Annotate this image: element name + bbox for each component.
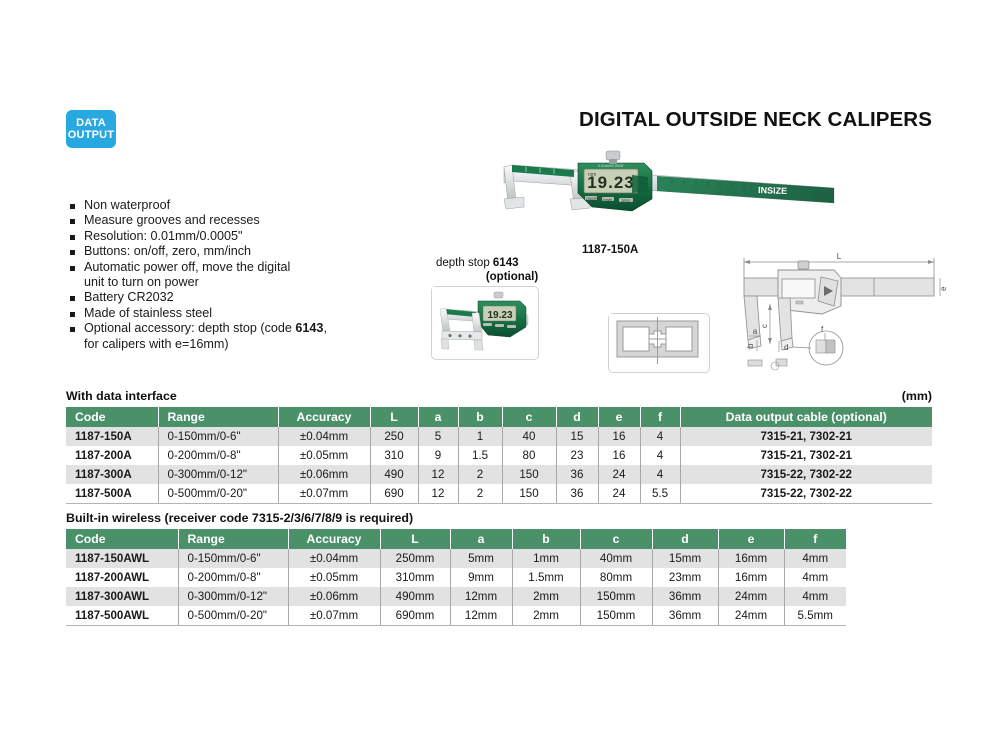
cell-f: 4mm	[784, 587, 846, 606]
feature-text: Optional accessory: depth stop (code 614…	[84, 321, 327, 335]
col-header-d: d	[652, 529, 718, 549]
badge-line-1: DATA	[76, 117, 106, 129]
dim-label-L: L	[837, 252, 842, 261]
cell-c: 150	[502, 484, 556, 504]
feature-text: Battery CR2032	[84, 290, 174, 304]
cell-a: 5mm	[450, 549, 512, 568]
groove-measurement-diagram	[609, 314, 706, 369]
depth-stop-photo-frame: 19.23	[431, 286, 539, 360]
table1-unit-note: (mm)	[902, 389, 932, 403]
col-header-code: Code	[66, 529, 178, 549]
list-item: Resolution: 0.01mm/0.0005"	[70, 229, 400, 244]
cell-a: 5	[418, 427, 458, 446]
cell-accuracy: ±0.04mm	[288, 549, 380, 568]
list-item: Non waterproof	[70, 198, 400, 213]
cell-range: 0-200mm/0-8"	[178, 568, 288, 587]
cell-e: 16mm	[718, 549, 784, 568]
cell-e: 24mm	[718, 587, 784, 606]
dim-label-c: c	[760, 324, 769, 328]
cell-e: 24mm	[718, 606, 784, 626]
cell-L: 490mm	[380, 587, 450, 606]
depth-stop-caption-line1: depth stop 6143	[436, 256, 616, 270]
cell-L: 250	[370, 427, 418, 446]
dimension-drawing: L e c a	[726, 248, 966, 378]
dim-label-f: f	[821, 325, 824, 334]
cell-e: 24	[598, 465, 640, 484]
cell-c: 40	[502, 427, 556, 446]
cell-accuracy: ±0.04mm	[278, 427, 370, 446]
cell-range: 0-500mm/0-20"	[158, 484, 278, 504]
depth-stop-code-value: 6143	[493, 257, 519, 269]
cell-d: 23mm	[652, 568, 718, 587]
cell-e: 16	[598, 427, 640, 446]
cell-code: 1187-300AWL	[66, 587, 178, 606]
cell-accuracy: ±0.07mm	[278, 484, 370, 504]
cell-a: 12	[418, 465, 458, 484]
depth-stop-illustration: 19.23	[432, 287, 535, 356]
technical-drawing: L e c a	[726, 248, 966, 378]
table-row[interactable]: 1187-200A 0-200mm/0-8" ±0.05mm 310 9 1.5…	[66, 446, 932, 465]
cell-L: 690mm	[380, 606, 450, 626]
cell-b: 1.5	[458, 446, 502, 465]
col-header-c: c	[580, 529, 652, 549]
list-item: Battery CR2032	[70, 290, 400, 305]
col-header-c: c	[502, 407, 556, 427]
feature-text-continued: unit to turn on power	[84, 275, 400, 290]
svg-text:0.01mm/0.0005": 0.01mm/0.0005"	[598, 164, 625, 168]
cell-data-output-cable: 7315-21, 7302-21	[680, 427, 932, 446]
cell-range: 0-300mm/0-12"	[158, 465, 278, 484]
page-title: DIGITAL OUTSIDE NECK CALIPERS	[579, 108, 932, 132]
table-row[interactable]: 1187-500A 0-500mm/0-20" ±0.07mm 690 12 2…	[66, 484, 932, 504]
cell-a: 9	[418, 446, 458, 465]
cell-data-output-cable: 7315-21, 7302-21	[680, 446, 932, 465]
feature-text: Non waterproof	[84, 198, 170, 212]
cell-f: 4	[640, 446, 680, 465]
cell-a: 12	[418, 484, 458, 504]
col-header-accuracy: Accuracy	[288, 529, 380, 549]
table-header-row: Code Range Accuracy L a b c d e f	[66, 529, 846, 549]
table1-title: With data interface	[66, 389, 177, 403]
cell-code: 1187-150AWL	[66, 549, 178, 568]
cell-f: 4	[640, 465, 680, 484]
list-item: Automatic power off, move the digital un…	[70, 260, 400, 291]
cell-code: 1187-300A	[66, 465, 158, 484]
cell-L: 250mm	[380, 549, 450, 568]
table-row[interactable]: 1187-150AWL 0-150mm/0-6" ±0.04mm 250mm 5…	[66, 549, 846, 568]
depth-stop-caption: depth stop 6143 (optional)	[436, 256, 616, 284]
table-row[interactable]: 1187-150A 0-150mm/0-6" ±0.04mm 250 5 1 4…	[66, 427, 932, 446]
cell-b: 1	[458, 427, 502, 446]
cell-L: 690	[370, 484, 418, 504]
cell-d: 15mm	[652, 549, 718, 568]
spec-table-data-interface: Code Range Accuracy L a b c d e f Data o…	[66, 407, 932, 504]
list-item: Made of stainless steel	[70, 306, 400, 321]
badge-line-2: OUTPUT	[68, 129, 114, 141]
spec-table-builtin-wireless: Code Range Accuracy L a b c d e f 1187-1…	[66, 529, 846, 626]
cell-L: 310mm	[380, 568, 450, 587]
cell-b: 1.5mm	[512, 568, 580, 587]
col-header-f: f	[784, 529, 846, 549]
dim-label-b: b	[746, 343, 755, 348]
cell-c: 150	[502, 465, 556, 484]
cell-f: 4	[640, 427, 680, 446]
list-item: Buttons: on/off, zero, mm/inch	[70, 244, 400, 259]
cell-code: 1187-200AWL	[66, 568, 178, 587]
cell-f: 4mm	[784, 568, 846, 587]
svg-text:mm/in: mm/in	[603, 198, 612, 202]
col-header-f: f	[640, 407, 680, 427]
cell-accuracy: ±0.06mm	[288, 587, 380, 606]
cell-range: 0-150mm/0-6"	[158, 427, 278, 446]
col-header-b: b	[458, 407, 502, 427]
feature-text: Resolution: 0.01mm/0.0005"	[84, 229, 243, 243]
cell-f: 4mm	[784, 549, 846, 568]
cell-range: 0-150mm/0-6"	[178, 549, 288, 568]
col-header-range: Range	[158, 407, 278, 427]
cell-range: 0-500mm/0-20"	[178, 606, 288, 626]
cell-range: 0-200mm/0-8"	[158, 446, 278, 465]
dim-label-d: d	[784, 343, 788, 352]
col-header-e: e	[718, 529, 784, 549]
cell-L: 310	[370, 446, 418, 465]
list-item: Measure grooves and recesses	[70, 213, 400, 228]
cell-e: 16mm	[718, 568, 784, 587]
cell-code: 1187-150A	[66, 427, 158, 446]
cell-e: 16	[598, 446, 640, 465]
cell-L: 490	[370, 465, 418, 484]
feature-text: Made of stainless steel	[84, 306, 212, 320]
cell-f: 5.5	[640, 484, 680, 504]
svg-text:ZERO: ZERO	[621, 199, 631, 203]
cell-data-output-cable: 7315-22, 7302-22	[680, 484, 932, 504]
cell-d: 36	[556, 484, 598, 504]
cell-range: 0-300mm/0-12"	[178, 587, 288, 606]
col-header-range: Range	[178, 529, 288, 549]
depth-stop-code: 6143	[295, 321, 323, 335]
cell-e: 24	[598, 484, 640, 504]
svg-text:19.23: 19.23	[487, 310, 512, 321]
feature-list: Non waterproof Measure grooves and reces…	[70, 198, 400, 352]
cell-data-output-cable: 7315-22, 7302-22	[680, 465, 932, 484]
data-output-badge: DATA OUTPUT	[66, 110, 116, 148]
cell-code: 1187-500A	[66, 484, 158, 504]
cell-code: 1187-200A	[66, 446, 158, 465]
col-header-b: b	[512, 529, 580, 549]
col-header-d: d	[556, 407, 598, 427]
cell-accuracy: ±0.05mm	[278, 446, 370, 465]
application-diagram-frame	[608, 313, 710, 373]
col-header-L: L	[380, 529, 450, 549]
cell-d: 36	[556, 465, 598, 484]
cell-a: 12mm	[450, 606, 512, 626]
cell-accuracy: ±0.07mm	[288, 606, 380, 626]
cell-c: 80	[502, 446, 556, 465]
main-product-photo: INSIZE 19.23 mm ON/OFF mm/in ZERO 0.01mm…	[482, 141, 842, 236]
table-row[interactable]: 1187-300AWL 0-300mm/0-12" ±0.06mm 490mm …	[66, 587, 846, 606]
cell-accuracy: ±0.05mm	[288, 568, 380, 587]
cell-d: 36mm	[652, 587, 718, 606]
main-photo-caption: 1187-150A	[582, 244, 638, 256]
cell-b: 2mm	[512, 606, 580, 626]
cell-c: 150mm	[580, 606, 652, 626]
caliper-illustration: INSIZE 19.23 mm ON/OFF mm/in ZERO 0.01mm…	[482, 141, 842, 236]
dim-label-e: e	[939, 286, 948, 291]
cell-a: 12mm	[450, 587, 512, 606]
svg-text:mm: mm	[588, 172, 596, 178]
cell-b: 2mm	[512, 587, 580, 606]
cell-b: 2	[458, 484, 502, 504]
feature-text: Measure grooves and recesses	[84, 213, 260, 227]
col-header-code: Code	[66, 407, 158, 427]
cell-c: 40mm	[580, 549, 652, 568]
cell-d: 36mm	[652, 606, 718, 626]
cell-a: 9mm	[450, 568, 512, 587]
col-header-e: e	[598, 407, 640, 427]
table-row[interactable]: 1187-300A 0-300mm/0-12" ±0.06mm 490 12 2…	[66, 465, 932, 484]
list-item: Optional accessory: depth stop (code 614…	[70, 321, 400, 352]
col-header-a: a	[418, 407, 458, 427]
cell-d: 23	[556, 446, 598, 465]
table-row[interactable]: 1187-200AWL 0-200mm/0-8" ±0.05mm 310mm 9…	[66, 568, 846, 587]
col-header-data-output-cable: Data output cable (optional)	[680, 407, 932, 427]
table-row[interactable]: 1187-500AWL 0-500mm/0-20" ±0.07mm 690mm …	[66, 606, 846, 626]
cell-b: 2	[458, 465, 502, 484]
col-header-accuracy: Accuracy	[278, 407, 370, 427]
cell-f: 5.5mm	[784, 606, 846, 626]
cell-accuracy: ±0.06mm	[278, 465, 370, 484]
depth-stop-caption-line2: (optional)	[436, 270, 616, 284]
cell-c: 80mm	[580, 568, 652, 587]
svg-text:INSIZE: INSIZE	[758, 185, 787, 196]
dim-label-a: a	[753, 327, 758, 336]
col-header-L: L	[370, 407, 418, 427]
cell-c: 150mm	[580, 587, 652, 606]
feature-text: Automatic power off, move the digital	[84, 260, 290, 274]
feature-text-continued: for calipers with e=16mm)	[84, 337, 400, 352]
svg-text:ON/OFF: ON/OFF	[586, 197, 599, 201]
feature-text: Buttons: on/off, zero, mm/inch	[84, 244, 251, 258]
cell-d: 15	[556, 427, 598, 446]
col-header-a: a	[450, 529, 512, 549]
table2-title: Built-in wireless (receiver code 7315-2/…	[66, 511, 413, 525]
cell-b: 1mm	[512, 549, 580, 568]
cell-code: 1187-500AWL	[66, 606, 178, 626]
table-header-row: Code Range Accuracy L a b c d e f Data o…	[66, 407, 932, 427]
